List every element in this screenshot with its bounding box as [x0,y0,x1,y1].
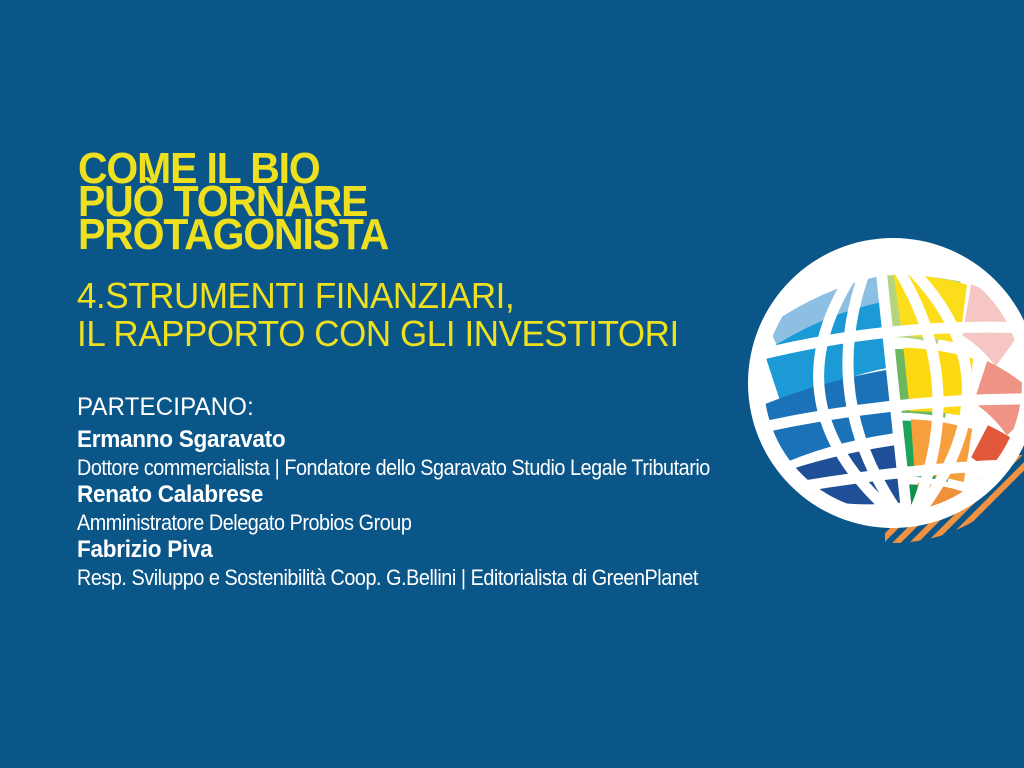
slide-canvas: COME IL BIO PUÒ TORNARE PROTAGONISTA 4.S… [0,0,1024,768]
speaker-entry: Ermanno Sgaravato Dottore commercialista… [77,426,937,481]
subtitle-line-2: IL RAPPORTO CON GLI INVESTITORI [77,315,853,353]
speaker-name: Renato Calabrese [77,481,885,509]
slide-subtitle: 4.STRUMENTI FINANZIARI, IL RAPPORTO CON … [77,277,877,353]
subtitle-line-1: 4.STRUMENTI FINANZIARI, [77,277,853,315]
speaker-role: Amministratore Delegato Probios Group [77,509,761,536]
speaker-name: Ermanno Sgaravato [77,426,885,454]
participants-label: PARTECIPANO: [77,392,903,422]
speaker-entry: Fabrizio Piva Resp. Sviluppo e Sostenibi… [77,536,937,591]
speaker-role: Dottore commercialista | Fondatore dello… [77,454,761,481]
speakers-section: PARTECIPANO: Ermanno Sgaravato Dottore c… [77,392,937,591]
title-line-3: PROTAGONISTA [78,218,729,251]
speaker-entry: Renato Calabrese Amministratore Delegato… [77,481,937,536]
speaker-name: Fabrizio Piva [77,536,885,564]
slide-title: COME IL BIO PUÒ TORNARE PROTAGONISTA [78,152,778,251]
speaker-role: Resp. Sviluppo e Sostenibilità Coop. G.B… [77,564,761,591]
